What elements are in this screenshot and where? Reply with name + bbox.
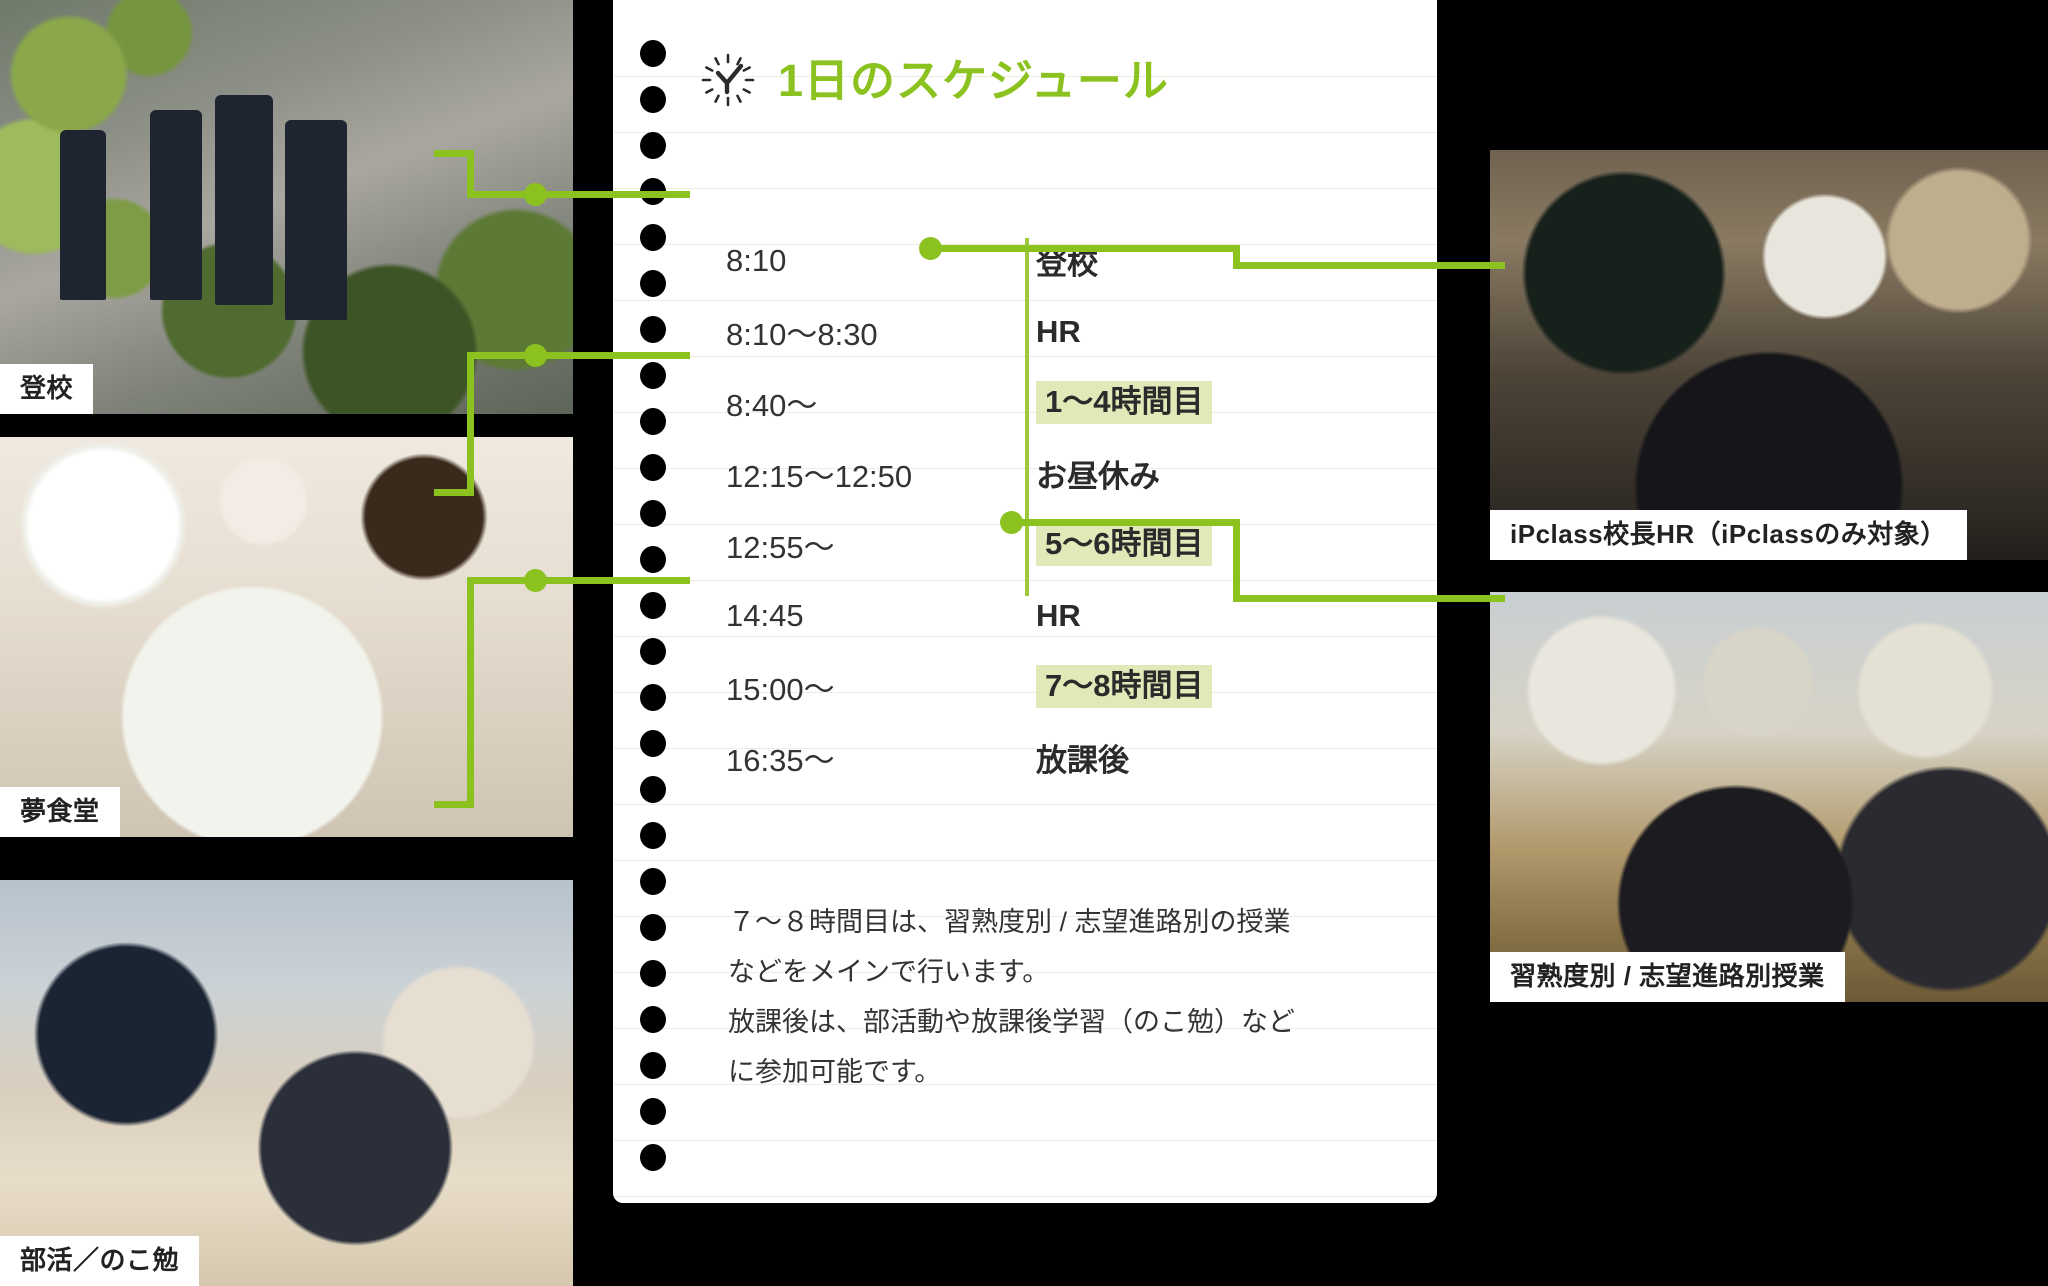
- punch-hole: [640, 960, 666, 987]
- note-line-2: などをメインで行います。: [728, 947, 1368, 997]
- note-line-1: ７〜８時間目は、習熟度別 / 志望進路別の授業: [728, 897, 1368, 947]
- punch-hole: [640, 500, 666, 527]
- punch-hole: [640, 40, 666, 67]
- schedule-table: 8:10登校8:10〜8:30HR8:40〜1〜4時間目12:15〜12:50お…: [726, 225, 1426, 793]
- rule-line: [613, 1196, 1437, 1197]
- punch-hole: [640, 592, 666, 619]
- schedule-row: 14:45HR: [726, 580, 1426, 651]
- punch-hole: [640, 86, 666, 113]
- schedule-activity: HR: [1036, 314, 1081, 350]
- punch-hole: [640, 868, 666, 895]
- schedule-activity: 7〜8時間目: [1036, 665, 1212, 708]
- schedule-header: 1日のスケジュール: [700, 52, 1169, 108]
- rule-line: [613, 132, 1437, 133]
- photo-caption-level-class: 習熟度別 / 志望進路別授業: [1490, 952, 1845, 1002]
- punch-hole: [640, 1144, 666, 1171]
- photo-club: 部活／のこ勉: [0, 880, 573, 1286]
- punch-hole: [640, 914, 666, 941]
- schedule-activity-highlight: 1〜4時間目: [1036, 381, 1212, 424]
- schedule-note: ７〜８時間目は、習熟度別 / 志望進路別の授業 などをメインで行います。 放課後…: [728, 897, 1368, 1097]
- note-line-4: に参加可能です。: [728, 1047, 1368, 1097]
- photo-caption-lunch: 夢食堂: [0, 787, 120, 837]
- punch-hole: [640, 822, 666, 849]
- schedule-activity: 5〜6時間目: [1036, 523, 1212, 566]
- schedule-column-divider: [1025, 238, 1029, 596]
- punch-hole: [640, 408, 666, 435]
- photo-lunch: 夢食堂: [0, 437, 573, 837]
- schedule-activity: HR: [1036, 598, 1081, 634]
- schedule-activity-highlight: 7〜8時間目: [1036, 665, 1212, 708]
- punch-hole-column: [640, 0, 680, 1203]
- schedule-row: 8:10登校: [726, 225, 1426, 296]
- photo-caption-club: 部活／のこ勉: [0, 1236, 199, 1286]
- rule-line: [613, 804, 1437, 805]
- schedule-row: 8:10〜8:30HR: [726, 296, 1426, 367]
- rule-line: [613, 188, 1437, 189]
- punch-hole: [640, 1098, 666, 1125]
- punch-hole: [640, 316, 666, 343]
- schedule-row: 15:00〜7〜8時間目: [726, 651, 1426, 722]
- punch-hole: [640, 1052, 666, 1079]
- photo-caption-commute: 登校: [0, 364, 93, 414]
- schedule-time: 14:45: [726, 598, 1036, 634]
- schedule-time: 8:10〜8:30: [726, 309, 1036, 354]
- photo-level-class: 習熟度別 / 志望進路別授業: [1490, 592, 2048, 1002]
- photo-caption-iphclass: iPclass校長HR（iPclassのみ対象）: [1490, 510, 1967, 560]
- rule-line: [613, 1140, 1437, 1141]
- schedule-activity-highlight: 5〜6時間目: [1036, 523, 1212, 566]
- note-line-3: 放課後は、部活動や放課後学習（のこ勉）など: [728, 997, 1368, 1047]
- page-title: 1日のスケジュール: [778, 58, 1169, 103]
- schedule-time: 12:15〜12:50: [726, 451, 1036, 496]
- schedule-row: 8:40〜1〜4時間目: [726, 367, 1426, 438]
- punch-hole: [640, 224, 666, 251]
- schedule-row: 12:15〜12:50お昼休み: [726, 438, 1426, 509]
- punch-hole: [640, 546, 666, 573]
- punch-hole: [640, 132, 666, 159]
- schedule-activity: 放課後: [1036, 735, 1129, 780]
- punch-hole: [640, 362, 666, 389]
- schedule-time: 8:40〜: [726, 380, 1036, 425]
- schedule-time: 16:35〜: [726, 735, 1036, 780]
- punch-hole: [640, 454, 666, 481]
- clock-icon: [700, 52, 756, 108]
- punch-hole: [640, 730, 666, 757]
- schedule-time: 15:00〜: [726, 664, 1036, 709]
- schedule-row: 16:35〜放課後: [726, 722, 1426, 793]
- punch-hole: [640, 270, 666, 297]
- schedule-time: 12:55〜: [726, 522, 1036, 567]
- photo-iphclass: iPclass校長HR（iPclassのみ対象）: [1490, 150, 2048, 560]
- punch-hole: [640, 1006, 666, 1033]
- punch-hole: [640, 776, 666, 803]
- rule-line: [613, 860, 1437, 861]
- schedule-activity: 1〜4時間目: [1036, 381, 1212, 424]
- punch-hole: [640, 638, 666, 665]
- schedule-activity: お昼休み: [1036, 451, 1160, 496]
- punch-hole: [640, 684, 666, 711]
